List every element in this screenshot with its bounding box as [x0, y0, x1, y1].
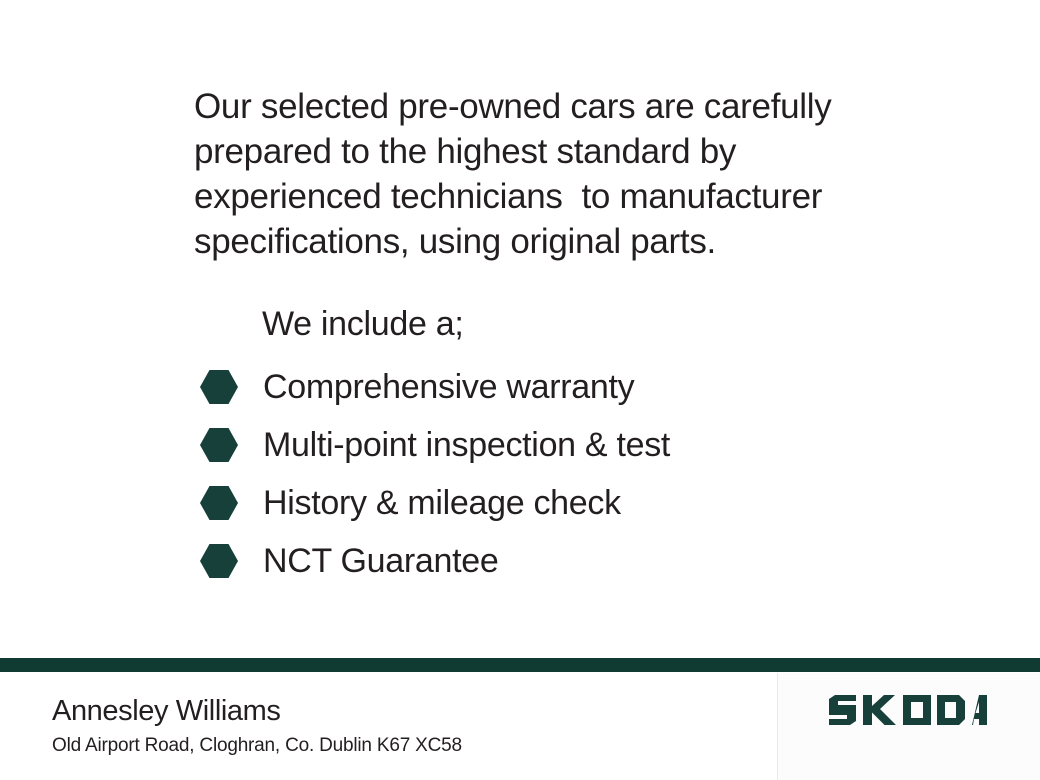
headline-line-1: Our selected pre-owned cars are carefull…: [194, 84, 894, 129]
footer-vertical-divider: [777, 673, 778, 780]
list-item: NCT Guarantee: [200, 532, 900, 590]
headline-line-3: experienced technicians to manufacturer: [194, 174, 894, 219]
brand-divider-bar: [0, 658, 1040, 672]
list-item-label: Multi-point inspection & test: [263, 425, 670, 465]
skoda-wordmark-logo: [828, 693, 988, 727]
dealer-name: Annesley Williams: [52, 694, 462, 728]
hexagon-bullet-icon: [200, 486, 238, 520]
list-item: Multi-point inspection & test: [200, 416, 900, 474]
headline-line-4: specifications, using original parts.: [194, 219, 894, 264]
promo-slide: Our selected pre-owned cars are carefull…: [0, 0, 1040, 780]
include-lead-text: We include a;: [262, 303, 463, 345]
hexagon-bullet-icon: [200, 428, 238, 462]
list-item: History & mileage check: [200, 474, 900, 532]
hexagon-bullet-icon: [200, 370, 238, 404]
dealer-address: Old Airport Road, Cloghran, Co. Dublin K…: [52, 734, 462, 758]
list-item: Comprehensive warranty: [200, 358, 900, 416]
list-item-label: NCT Guarantee: [263, 541, 498, 581]
hexagon-bullet-icon: [200, 544, 238, 578]
dealer-info-block: Annesley Williams Old Airport Road, Clog…: [52, 694, 462, 758]
inclusions-list: Comprehensive warranty Multi-point inspe…: [200, 358, 900, 590]
headline-paragraph: Our selected pre-owned cars are carefull…: [194, 84, 894, 264]
list-item-label: History & mileage check: [263, 483, 621, 523]
list-item-label: Comprehensive warranty: [263, 367, 634, 407]
headline-line-2: prepared to the highest standard by: [194, 129, 894, 174]
